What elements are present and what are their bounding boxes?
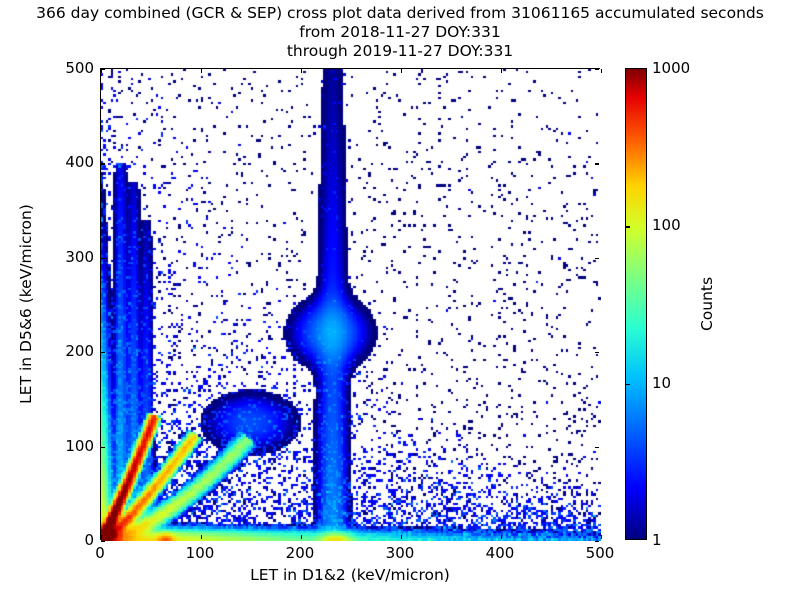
x-tick-mark (301, 535, 302, 539)
x-tick-label: 200 (286, 544, 315, 562)
title-line-2: from 2018-11-27 DOY:331 (0, 23, 800, 42)
x-tick-mark (301, 69, 302, 73)
x-tick-label: 400 (486, 544, 515, 562)
y-tick-mark (595, 447, 599, 448)
chart-title: 366 day combined (GCR & SEP) cross plot … (0, 4, 800, 61)
x-tick-label: 500 (586, 544, 615, 562)
colorbar-tick-label: 10 (652, 374, 671, 392)
y-tick-mark (595, 163, 599, 164)
y-tick-mark (595, 352, 599, 353)
y-axis-label: LET in D5&6 (keV/micron) (17, 204, 35, 404)
y-tick-label: 400 (65, 153, 94, 171)
y-tick-label: 500 (65, 59, 94, 77)
x-tick-mark (101, 535, 102, 539)
y-tick-mark (101, 69, 105, 70)
x-tick-mark (401, 535, 402, 539)
colorbar-tick-mark (626, 384, 630, 385)
x-tick-label: 300 (386, 544, 415, 562)
y-tick-mark (101, 447, 105, 448)
colorbar-tick-label: 1000 (652, 59, 690, 77)
x-tick-label: 100 (186, 544, 215, 562)
x-tick-mark (601, 535, 602, 539)
colorbar (625, 68, 647, 540)
y-tick-mark (595, 258, 599, 259)
y-tick-mark (101, 163, 105, 164)
figure-canvas: 366 day combined (GCR & SEP) cross plot … (0, 0, 800, 600)
y-tick-label: 100 (65, 437, 94, 455)
colorbar-label: Counts (698, 277, 716, 331)
y-tick-label: 300 (65, 248, 94, 266)
y-tick-mark (101, 352, 105, 353)
colorbar-gradient (626, 69, 646, 539)
plot-area (100, 68, 600, 540)
y-tick-mark (595, 69, 599, 70)
colorbar-tick-mark (626, 226, 630, 227)
x-tick-mark (501, 535, 502, 539)
y-tick-mark (101, 541, 105, 542)
x-tick-mark (201, 69, 202, 73)
title-line-1: 366 day combined (GCR & SEP) cross plot … (0, 4, 800, 23)
x-tick-mark (601, 69, 602, 73)
y-tick-label: 0 (84, 531, 94, 549)
x-tick-mark (501, 69, 502, 73)
y-tick-label: 200 (65, 342, 94, 360)
density-plot-canvas (101, 69, 601, 541)
x-tick-label: 0 (95, 544, 105, 562)
x-tick-mark (201, 535, 202, 539)
y-tick-mark (595, 541, 599, 542)
y-tick-mark (101, 258, 105, 259)
x-axis-label: LET in D1&2 (keV/micron) (100, 566, 600, 584)
colorbar-tick-label: 100 (652, 216, 681, 234)
x-tick-mark (401, 69, 402, 73)
colorbar-tick-label: 1 (652, 531, 662, 549)
